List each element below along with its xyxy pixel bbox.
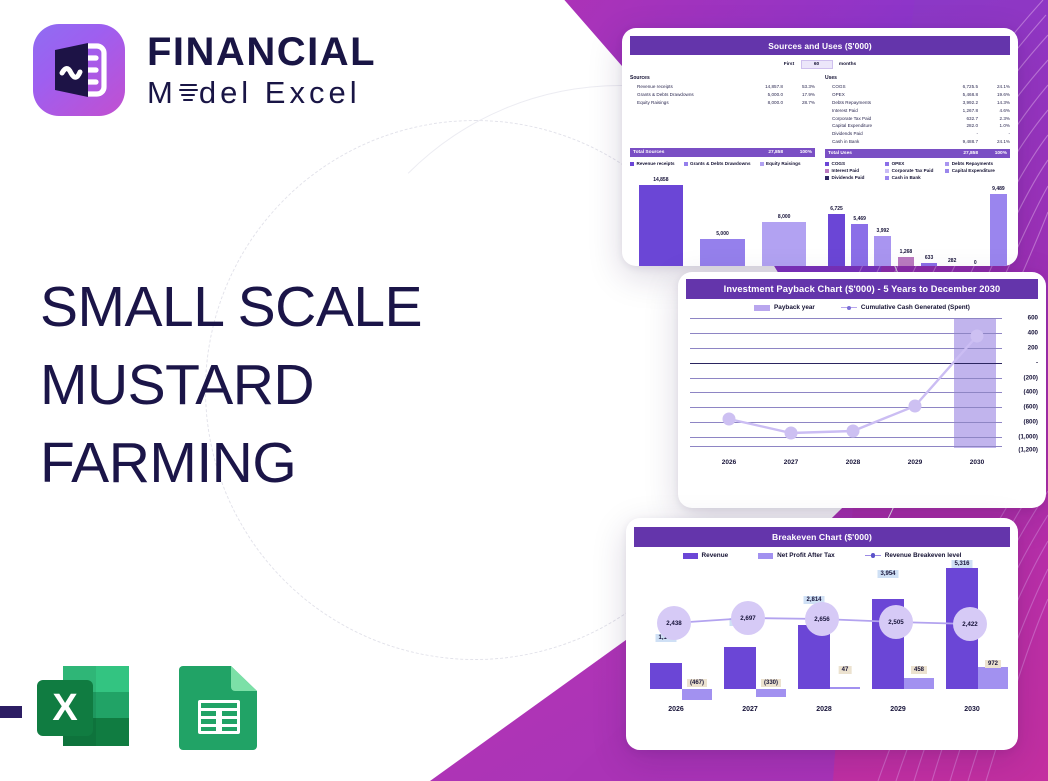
bar-value-label: 5,000 [716, 231, 729, 237]
bar [700, 239, 744, 266]
file-format-icons: X [33, 662, 271, 750]
bar-column: 8,000 [753, 172, 815, 266]
row-value: 27,858 [938, 151, 978, 156]
row-value: 632.7 [938, 115, 978, 123]
bar-value-label: 9,489 [992, 186, 1005, 192]
table-row: Dividends Paid - - [825, 130, 1010, 138]
row-label: Debts Repayments [825, 99, 938, 107]
row-label: Revenue receipts [630, 83, 743, 91]
legend-label: Revenue [702, 552, 729, 559]
table-row: Capital Expenditure 282.0 1.0% [825, 122, 1010, 130]
row-percent: 19.6% [978, 91, 1010, 99]
y-axis-tick-label: 600 [1028, 315, 1038, 322]
row-value: 6,725.5 [938, 83, 978, 91]
row-percent: 24.1% [978, 138, 1010, 146]
legend-label: COGS [832, 161, 846, 166]
y-axis-tick-label: (800) [1024, 419, 1038, 426]
table-row: Grants & Debts Drawdowns 5,000.0 17.9% [630, 91, 815, 99]
row-percent: 2.3% [978, 115, 1010, 123]
row-percent: 17.9% [783, 91, 815, 99]
bar [828, 214, 845, 266]
uses-total-row: Total Uses 27,858 100% [825, 149, 1010, 158]
legend-item: Cash in Bank [885, 175, 943, 180]
bar [639, 185, 683, 266]
data-point [909, 400, 922, 413]
row-label: Capital Expenditure [825, 122, 938, 130]
brand-name-secondary-suffix: del Excel [199, 77, 361, 108]
bar-column: 14,858 [630, 172, 692, 266]
page-title: SMALL SCALE MUSTARD FARMING [40, 268, 470, 502]
x-axis-tick-label: 2027 [784, 459, 798, 466]
bar-value-label: 8,000 [778, 214, 791, 220]
row-percent: - [978, 130, 1010, 138]
sources-table: Sources Revenue receipts 14,857.8 53.3% … [630, 75, 815, 158]
bar-column: 3,992 [871, 186, 894, 266]
breakeven-chart-legend: Revenue Net Profit After Tax Revenue Bre… [634, 552, 1010, 559]
slide-canvas: FINANCIAL M del Excel SMALL SCALE MUSTAR… [0, 0, 1048, 781]
bar [762, 222, 806, 266]
bar-value-label: 6,725 [830, 206, 843, 212]
x-axis-tick-label: 2028 [816, 706, 832, 713]
row-label: OPEX [825, 91, 938, 99]
google-sheets-icon[interactable] [171, 662, 271, 750]
legend-item: COGS [825, 161, 883, 166]
legend-label: Equity Raisings [766, 161, 800, 166]
row-label: COGS [825, 83, 938, 91]
data-point [971, 330, 984, 343]
row-value: 27,858 [743, 150, 783, 155]
table-row: Revenue receipts 14,857.8 53.3% [630, 83, 815, 91]
bar-net-profit [682, 689, 712, 700]
sources-bars: 14,858 5,000 8,000 [630, 172, 815, 266]
legend-label: Cash in Bank [892, 175, 921, 180]
bar-value-label: 0 [974, 260, 977, 266]
sources-total-row: Total Sources 27,858 100% [630, 148, 815, 157]
legend-item: Corporate Tax Paid [885, 168, 943, 173]
legend-label: Payback year [774, 304, 815, 311]
table-row: Equity Raisings 8,000.0 28.7% [630, 99, 815, 107]
bar-value-label: 14,858 [653, 177, 668, 183]
bar-column: 6,725 [825, 186, 848, 266]
payback-chart-legend: Payback year Cumulative Cash Generated (… [686, 304, 1038, 311]
row-percent: 100% [783, 150, 815, 155]
bar-value-label: 633 [925, 255, 933, 261]
decorative-left-tick [0, 706, 22, 718]
breakeven-value-bubble: 2,422 [953, 607, 987, 641]
breakeven-value-bubble: 2,656 [805, 602, 839, 636]
table-row: COGS 6,725.5 24.1% [825, 83, 1010, 91]
row-value: - [938, 130, 978, 138]
y-axis-tick-label: 200 [1028, 344, 1038, 351]
uses-bars: 6,725 5,469 3,992 1,268 633 282 0 9,489 [825, 186, 1010, 266]
table-row: Cash in Bank 9,488.7 24.1% [825, 138, 1010, 146]
uses-chart-legend: COGS OPEX Debts Repayments Interest Paid… [825, 161, 1010, 182]
uses-table-header: Uses [825, 75, 1010, 81]
legend-item: Equity Raisings [760, 161, 801, 166]
breakeven-value-bubble: 2,697 [731, 601, 765, 635]
bar-value-label: 1,268 [900, 249, 913, 255]
brand-logo: FINANCIAL M del Excel [33, 24, 376, 116]
row-label: Total Sources [630, 150, 743, 155]
microsoft-excel-icon[interactable]: X [33, 662, 133, 750]
legend-item: Net Profit After Tax [758, 552, 835, 559]
legend-label: Net Profit After Tax [777, 552, 835, 559]
row-value: 3,992.2 [938, 99, 978, 107]
bar-column: 5,000 [692, 172, 754, 266]
data-point [723, 413, 736, 426]
bar-net-profit [756, 689, 786, 697]
bar-column: 633 [918, 186, 941, 266]
legend-label: Grants & Debts Drawdowns [690, 161, 751, 166]
row-value: 282.0 [938, 122, 978, 130]
sources-uses-title: Sources and Uses ($'000) [630, 36, 1010, 55]
x-axis-tick-label: 2027 [742, 706, 758, 713]
x-axis-tick-label: 2029 [908, 459, 922, 466]
legend-item: Debts Repayments [945, 161, 1003, 166]
legend-item: Cumulative Cash Generated (Spent) [841, 304, 970, 311]
row-value: 5,000.0 [743, 91, 783, 99]
uses-bar-chart: COGS OPEX Debts Repayments Interest Paid… [825, 161, 1010, 266]
legend-item: OPEX [885, 161, 943, 166]
table-row: Corporate Tax Paid 632.7 2.3% [825, 115, 1010, 123]
legend-item: Grants & Debts Drawdowns [684, 161, 751, 166]
legend-label: Cumulative Cash Generated (Spent) [861, 304, 970, 311]
brand-name-primary: FINANCIAL [147, 32, 376, 72]
row-value: 14,857.8 [743, 83, 783, 91]
legend-item: Interest Paid [825, 168, 883, 173]
breakeven-value-bubble: 2,505 [879, 605, 913, 639]
legend-label: Corporate Tax Paid [892, 168, 934, 173]
investment-payback-panel: Investment Payback Chart ($'000) - 5 Yea… [678, 272, 1046, 508]
brand-o-glyph-icon [177, 78, 199, 108]
table-row: Debts Repayments 3,992.2 14.3% [825, 99, 1010, 107]
breakeven-chart-title: Breakeven Chart ($'000) [634, 527, 1010, 547]
brand-name-secondary: M del Excel [147, 77, 376, 108]
bar-column: 9,489 [987, 186, 1010, 266]
row-percent: 100% [978, 151, 1010, 156]
payback-line-series [690, 314, 1000, 448]
legend-item: Revenue [683, 552, 729, 559]
sources-and-uses-panel: Sources and Uses ($'000) First 60 months… [622, 28, 1018, 266]
x-axis-tick-label: 2026 [722, 459, 736, 466]
payback-plot-area: 600 400 200 - (200) (400) (600) (800) (1… [686, 314, 1038, 466]
x-axis-tick-label: 2028 [846, 459, 860, 466]
y-axis-tick-label: 400 [1028, 329, 1038, 336]
legend-label: Revenue Breakeven level [885, 552, 962, 559]
row-label: Corporate Tax Paid [825, 115, 938, 123]
breakeven-plot-area: 1,140 1,848 2,814 3,954 5,316 (467) (330… [634, 561, 1010, 713]
row-label: Dividends Paid [825, 130, 938, 138]
breakeven-chart-panel: Breakeven Chart ($'000) Revenue Net Prof… [626, 518, 1018, 750]
period-prefix-label: First [784, 62, 794, 67]
period-months-input[interactable]: 60 [801, 60, 833, 69]
x-axis-tick-label: 2030 [964, 706, 980, 713]
data-point [847, 425, 860, 438]
row-label: Cash in Bank [825, 138, 938, 146]
row-percent: 14.3% [978, 99, 1010, 107]
y-axis-tick-label: (600) [1024, 404, 1038, 411]
bar [874, 236, 891, 266]
legend-item: Capital Expenditure [945, 168, 1003, 173]
sources-chart-legend: Revenue receipts Grants & Debts Drawdown… [630, 161, 815, 168]
bar-column: 282 [941, 186, 964, 266]
row-label: Total Uses [825, 151, 938, 156]
period-selector-row: First 60 months [630, 60, 1010, 69]
bar-value-label: 5,469 [853, 216, 866, 222]
row-label: Grants & Debts Drawdowns [630, 91, 743, 99]
y-axis-tick-label: (1,000) [1018, 434, 1038, 441]
legend-label: OPEX [892, 161, 905, 166]
x-axis-tick-label: 2030 [970, 459, 984, 466]
bar-value-label: 282 [948, 258, 956, 264]
row-value: 5,468.8 [938, 91, 978, 99]
row-value: 1,267.8 [938, 107, 978, 115]
legend-item: Dividends Paid [825, 175, 883, 180]
uses-table: Uses COGS 6,725.5 24.1% OPEX 5,468.8 19.… [825, 75, 1010, 158]
sources-bar-chart: Revenue receipts Grants & Debts Drawdown… [630, 161, 815, 266]
bar-column: 0 [964, 186, 987, 266]
y-axis-tick-label: (200) [1024, 374, 1038, 381]
sources-table-header: Sources [630, 75, 815, 81]
legend-label: Dividends Paid [832, 175, 865, 180]
row-value: 9,488.7 [938, 138, 978, 146]
svg-text:X: X [52, 687, 78, 729]
x-axis-tick-label: 2026 [668, 706, 684, 713]
bar [851, 224, 868, 266]
row-percent: 53.3% [783, 83, 815, 91]
bar-column: 5,469 [848, 186, 871, 266]
data-point [785, 427, 798, 440]
row-percent: 28.7% [783, 99, 815, 107]
x-axis-tick-label: 2029 [890, 706, 906, 713]
row-value: 8,000.0 [743, 99, 783, 107]
y-axis-tick-label: (400) [1024, 389, 1038, 396]
bar [921, 263, 938, 266]
row-label: Equity Raisings [630, 99, 743, 107]
legend-item: Revenue receipts [630, 161, 675, 166]
legend-label: Capital Expenditure [952, 168, 995, 173]
legend-label: Revenue receipts [637, 161, 675, 166]
table-row: Interest Paid 1,267.8 4.6% [825, 107, 1010, 115]
brand-name-secondary-prefix: M [147, 77, 177, 108]
legend-item: Payback year [754, 304, 815, 311]
period-suffix-label: months [839, 62, 856, 67]
row-percent: 1.0% [978, 122, 1010, 130]
bar [990, 194, 1007, 266]
y-axis-tick-label: (1,200) [1018, 447, 1038, 454]
bar-value-label: 3,992 [877, 228, 890, 234]
row-percent: 4.6% [978, 107, 1010, 115]
legend-item: Revenue Breakeven level [865, 552, 962, 559]
row-label: Interest Paid [825, 107, 938, 115]
y-axis-tick-label: - [1036, 359, 1038, 366]
bar [898, 257, 915, 266]
legend-label: Interest Paid [832, 168, 860, 173]
bar-column: 1,268 [894, 186, 917, 266]
breakeven-value-bubble: 2,438 [657, 606, 691, 640]
row-percent: 24.1% [978, 83, 1010, 91]
table-row: OPEX 5,468.8 19.6% [825, 91, 1010, 99]
legend-label: Debts Repayments [952, 161, 993, 166]
financial-model-logo-icon [33, 24, 125, 116]
payback-chart-title: Investment Payback Chart ($'000) - 5 Yea… [686, 279, 1038, 299]
